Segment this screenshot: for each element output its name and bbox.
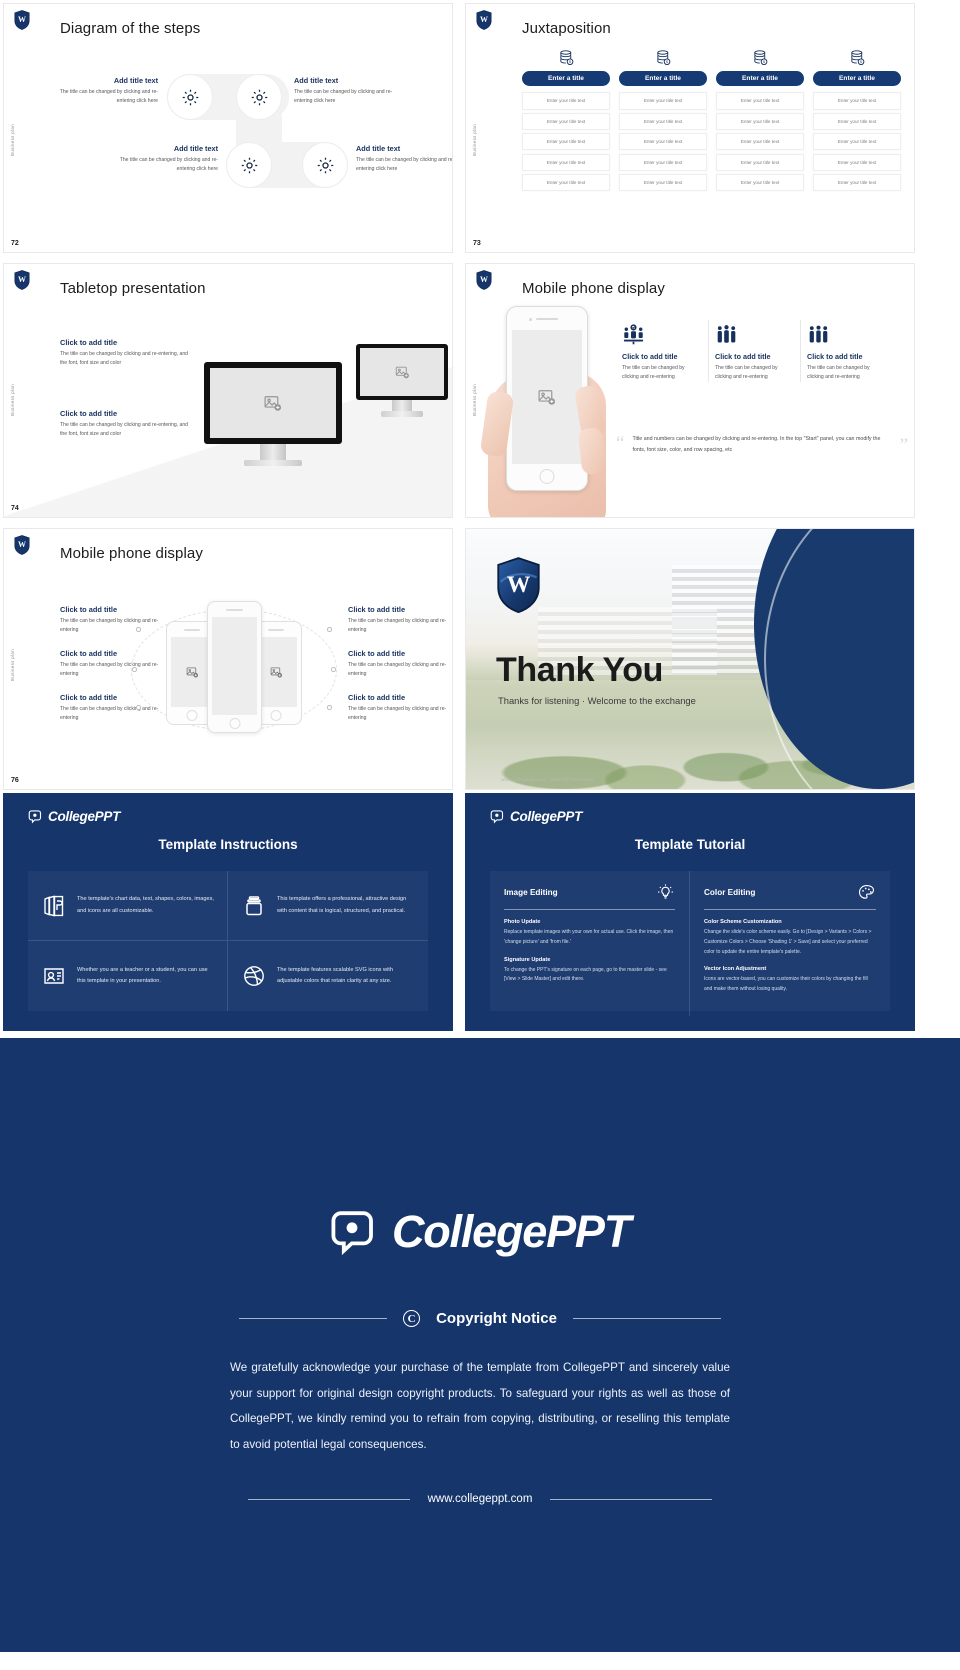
ppt-preview-page: W Diagram of the steps Business plan [0, 0, 960, 1652]
phone-speaker [536, 318, 558, 320]
brand-lockup: CollegePPT [490, 809, 582, 824]
connector-dot [136, 627, 141, 632]
step-icon-2[interactable] [236, 74, 282, 120]
tutorial-column-color-editing: Color Editing Color Scheme Customization… [690, 871, 890, 1016]
connector-dot [331, 667, 336, 672]
coin-stack-icon: $ [716, 46, 804, 68]
slide-thank-you[interactable]: W Thank You Thanks for listening · Welco… [465, 528, 915, 790]
tutorial-column-header: Color Editing [704, 883, 876, 910]
svg-text:$: $ [763, 60, 765, 64]
instruction-grid: The template's chart data, text, shapes,… [28, 871, 428, 1011]
svg-text:W: W [18, 540, 26, 549]
monitor-screen[interactable] [356, 344, 448, 400]
monitor-base [381, 411, 423, 417]
step-body: The title can be changed by clicking and… [112, 156, 218, 174]
thank-you-footer: www.collegeppt.com | Westcliff Universit… [501, 777, 593, 782]
copyright-mark-icon: C [403, 1310, 420, 1327]
tutorial-heading: Image Editing [504, 888, 558, 897]
column-header-button[interactable]: Enter a title [619, 71, 707, 86]
people-group-icon [715, 320, 794, 346]
westcliff-shield-icon: W [476, 10, 492, 30]
step-text-1: Add title text The title can be changed … [52, 76, 158, 106]
phone-home-button[interactable] [187, 710, 198, 721]
step-text-3: Add title text The title can be changed … [112, 144, 218, 174]
thank-you-subtitle: Thanks for listening · Welcome to the ex… [498, 695, 696, 706]
tutorial-column-header: Image Editing [504, 883, 675, 910]
quote-text: Title and numbers can be changed by clic… [632, 434, 891, 455]
slide-diagram-of-the-steps[interactable]: W Diagram of the steps Business plan [3, 3, 453, 253]
westcliff-shield-icon: W [476, 270, 492, 290]
phone-speaker [227, 609, 243, 611]
monitor-small[interactable] [356, 344, 448, 417]
feature-item: Click to add title The title can be chan… [616, 320, 708, 382]
copyright-heading-row: C Copyright Notice [239, 1310, 721, 1327]
tutorial-subhead: Photo Update [504, 919, 675, 925]
juxtaposition-column: $ Enter a title Enter your title text En… [716, 46, 804, 194]
page-number: 76 [11, 777, 19, 784]
phone-center[interactable] [207, 601, 262, 733]
page-title: Mobile phone display [60, 545, 203, 562]
page-number: 72 [11, 240, 19, 247]
tutorial-heading: Color Editing [704, 888, 755, 897]
divider-right [550, 1499, 712, 1500]
brand-lockup: CollegePPT [28, 809, 120, 824]
phone-display[interactable] [212, 617, 257, 715]
instruction-text: This template offers a professional, att… [277, 894, 415, 916]
feature-title: Click to add title [807, 352, 886, 361]
monitor-base [244, 460, 302, 466]
tutorial-body: To change the PPT's signature on each pa… [504, 966, 675, 986]
connector-dot [327, 705, 332, 710]
quote-open-icon: “ [616, 434, 624, 455]
svg-text:W: W [480, 275, 488, 284]
juxtaposition-column: $ Enter a title Enter your title text En… [813, 46, 901, 194]
tutorial-subhead: Color Scheme Customization [704, 919, 876, 925]
step-body: The title can be changed by clicking and… [356, 156, 453, 174]
monitor-screen[interactable] [204, 362, 342, 444]
block-title: Click to add title [60, 338, 188, 347]
page-title: Juxtaposition [522, 20, 611, 37]
phone-display[interactable] [512, 330, 582, 464]
step-text-4: Add title text The title can be changed … [356, 144, 453, 174]
info-panels: CollegePPT Template Instructions The tem… [0, 790, 960, 1031]
copyright-heading: Copyright Notice [436, 1310, 557, 1327]
block-title: Click to add title [348, 649, 453, 658]
table-cell[interactable]: Enter your title text [522, 154, 610, 171]
connector-dot [327, 627, 332, 632]
monitor-neck [392, 400, 412, 411]
quote-block: “ Title and numbers can be changed by cl… [616, 434, 908, 455]
step-title: Add title text [356, 144, 453, 153]
side-label: Business plan [472, 384, 477, 416]
slide-thumbnail-grid: W Diagram of the steps Business plan [0, 0, 960, 790]
image-placeholder-icon [269, 666, 284, 679]
svg-text:W: W [18, 275, 26, 284]
juxtaposition-columns: $ Enter a title Enter your title text En… [522, 46, 901, 194]
feature-body: The title can be changed by clicking and… [622, 364, 702, 382]
table-cell[interactable]: Enter your title text [716, 154, 804, 171]
block-title: Click to add title [348, 605, 453, 614]
phone-home-button[interactable] [271, 710, 282, 721]
table-cell[interactable]: Enter your title text [619, 174, 707, 191]
palette-icon [857, 883, 876, 902]
side-label: Business plan [10, 649, 15, 681]
table-cell[interactable]: Enter your title text [522, 174, 610, 191]
westcliff-shield-icon: W [14, 535, 30, 555]
side-label: Business plan [472, 124, 477, 156]
slide-mobile-phone-display-trio[interactable]: W Mobile phone display Business plan Cli… [3, 528, 453, 790]
slides-p-icon [41, 894, 67, 918]
phone-home-button[interactable] [229, 718, 240, 729]
collegeppt-logo-icon [330, 1208, 378, 1256]
table-cell[interactable]: Enter your title text [813, 133, 901, 150]
image-placeholder-icon [394, 365, 411, 380]
block-body: The title can be changed by clicking and… [60, 421, 188, 439]
thank-you-title: Thank You [496, 651, 663, 690]
slide-tabletop-presentation[interactable]: W Tabletop presentation Business plan Cl… [3, 263, 453, 518]
phone-trio-graphic [144, 601, 324, 741]
panel-title: Template Instructions [3, 837, 453, 852]
svg-text:$: $ [569, 60, 571, 64]
dribbble-icon [241, 964, 267, 988]
divider-left [239, 1318, 387, 1319]
tutorial-subhead: Signature Update [504, 957, 675, 963]
step-text-2: Add title text The title can be changed … [294, 76, 400, 106]
tabletop-text-block-2: Click to add title The title can be chan… [60, 409, 188, 439]
phone-speaker [184, 629, 200, 631]
tutorial-body: Change the slide's color scheme easily. … [704, 928, 876, 957]
instruction-cell: Whether you are a teacher or a student, … [28, 941, 228, 1011]
block-body: The title can be changed by clicking and… [60, 350, 188, 368]
table-cell[interactable]: Enter your title text [716, 174, 804, 191]
table-cell[interactable]: Enter your title text [619, 133, 707, 150]
column-header-button[interactable]: Enter a title [522, 71, 610, 86]
connector-dot [132, 667, 137, 672]
page-number: 73 [473, 240, 481, 247]
brand-name: CollegePPT [510, 809, 582, 824]
people-three-icon [807, 320, 886, 346]
step-title: Add title text [112, 144, 218, 153]
monitor-large[interactable] [204, 362, 342, 466]
copyright-body: We gratefully acknowledge your purchase … [230, 1355, 730, 1457]
side-label: Business plan [10, 384, 15, 416]
phone-home-button[interactable] [540, 469, 555, 484]
coin-stack-icon: $ [522, 46, 610, 68]
divider-right [573, 1318, 721, 1319]
westcliff-shield-icon: W [14, 270, 30, 290]
instruction-text: The template features scalable SVG icons… [277, 965, 415, 987]
people-target-icon [622, 320, 702, 346]
copyright-footer-row: www.collegeppt.com [248, 1493, 713, 1505]
step-body: The title can be changed by clicking and… [52, 88, 158, 106]
trio-right-block-3: Click to add title The title can be chan… [348, 693, 453, 723]
column-header-button[interactable]: Enter a title [716, 71, 804, 86]
feature-body: The title can be changed by clicking and… [715, 364, 794, 382]
box-icon [241, 894, 267, 918]
table-cell[interactable]: Enter your title text [522, 133, 610, 150]
feature-item: Click to add title The title can be chan… [800, 320, 892, 382]
step-title: Add title text [294, 76, 400, 85]
instruction-text: Whether you are a teacher or a student, … [77, 965, 214, 987]
slide-juxtaposition[interactable]: W Juxtaposition Business plan $ Enter a … [465, 3, 915, 253]
feature-title: Click to add title [622, 352, 702, 361]
page-title: Tabletop presentation [60, 280, 206, 297]
table-cell[interactable]: Enter your title text [619, 113, 707, 130]
lightbulb-icon [656, 883, 675, 902]
coin-stack-icon: $ [619, 46, 707, 68]
panel-title: Template Tutorial [465, 837, 915, 852]
tutorial-body: Replace template images with your own fo… [504, 928, 675, 948]
table-cell[interactable]: Enter your title text [522, 113, 610, 130]
page-number: 74 [11, 505, 19, 512]
tutorial-grid: Image Editing Photo Update Replace templ… [490, 871, 890, 1011]
table-cell[interactable]: Enter your title text [813, 113, 901, 130]
finger [578, 427, 607, 475]
table-cell[interactable]: Enter your title text [619, 92, 707, 109]
juxtaposition-column: $ Enter a title Enter your title text En… [619, 46, 707, 194]
quote-close-icon: ” [900, 436, 908, 455]
decorative-arc-ring [764, 529, 914, 789]
copyright-url[interactable]: www.collegeppt.com [428, 1493, 533, 1505]
instruction-cell: The template features scalable SVG icons… [228, 941, 428, 1011]
step-title: Add title text [52, 76, 158, 85]
table-cell[interactable]: Enter your title text [716, 92, 804, 109]
page-title: Mobile phone display [522, 280, 665, 297]
table-cell[interactable]: Enter your title text [813, 174, 901, 191]
juxtaposition-column: $ Enter a title Enter your title text En… [522, 46, 610, 194]
svg-text:$: $ [666, 60, 668, 64]
coin-stack-icon: $ [813, 46, 901, 68]
instruction-cell: The template's chart data, text, shapes,… [28, 871, 228, 941]
person-card-icon [41, 964, 67, 988]
tabletop-text-block-1: Click to add title The title can be chan… [60, 338, 188, 368]
collegeppt-logo-icon [490, 809, 505, 824]
trio-right-block-2: Click to add title The title can be chan… [348, 649, 453, 679]
tutorial-subhead: Vector Icon Adjustment [704, 966, 876, 972]
block-body: The title can be changed by clicking and… [348, 617, 453, 635]
monitor-neck [260, 444, 286, 460]
svg-text:W: W [480, 15, 488, 24]
connector-dot [136, 705, 141, 710]
table-cell[interactable]: Enter your title text [716, 133, 804, 150]
hand-holding-phone-image [482, 306, 608, 518]
image-placeholder-icon [262, 394, 284, 413]
westcliff-shield-icon: W [496, 557, 541, 611]
collegeppt-logo-icon [28, 809, 43, 824]
panel-template-tutorial: CollegePPT Template Tutorial Image Editi… [465, 793, 915, 1031]
copyright-section: CollegePPT C Copyright Notice We gratefu… [0, 1038, 960, 1652]
copyright-brand-lockup: CollegePPT [330, 1206, 630, 1258]
trio-right-block-1: Click to add title The title can be chan… [348, 605, 453, 635]
feature-item: Click to add title The title can be chan… [708, 320, 800, 382]
table-cell[interactable]: Enter your title text [813, 154, 901, 171]
thank-you-layout: W Thank You Thanks for listening · Welco… [466, 529, 914, 789]
slide-mobile-phone-display-hand[interactable]: W Mobile phone display Business plan [465, 263, 915, 518]
panel-template-instructions: CollegePPT Template Instructions The tem… [3, 793, 453, 1031]
feature-title: Click to add title [715, 352, 794, 361]
svg-text:W: W [507, 572, 531, 598]
steps-diagram: Add title text The title can be changed … [4, 4, 452, 252]
block-title: Click to add title [348, 693, 453, 702]
instruction-text: The template's chart data, text, shapes,… [77, 894, 214, 916]
brand-name: CollegePPT [392, 1206, 630, 1258]
feature-body: The title can be changed by clicking and… [807, 364, 886, 382]
phone-camera [529, 318, 532, 321]
table-cell[interactable]: Enter your title text [813, 92, 901, 109]
phone-speaker [268, 629, 284, 631]
table-cell[interactable]: Enter your title text [522, 92, 610, 109]
brand-name: CollegePPT [48, 809, 120, 824]
image-placeholder-icon [185, 666, 200, 679]
step-icon-4[interactable] [302, 142, 348, 188]
step-icon-1[interactable] [167, 74, 213, 120]
block-body: The title can be changed by clicking and… [348, 661, 453, 679]
divider-left [248, 1499, 410, 1500]
step-body: The title can be changed by clicking and… [294, 88, 400, 106]
block-body: The title can be changed by clicking and… [348, 705, 453, 723]
step-icon-3[interactable] [226, 142, 272, 188]
feature-row: Click to add title The title can be chan… [616, 320, 892, 382]
tutorial-body: Icons are vector-based, you can customiz… [704, 975, 876, 995]
table-cell[interactable]: Enter your title text [716, 113, 804, 130]
svg-text:$: $ [860, 60, 862, 64]
image-placeholder-icon [536, 388, 558, 407]
block-title: Click to add title [60, 409, 188, 418]
table-cell[interactable]: Enter your title text [619, 154, 707, 171]
tutorial-column-image-editing: Image Editing Photo Update Replace templ… [490, 871, 690, 1016]
instruction-cell: This template offers a professional, att… [228, 871, 428, 941]
column-header-button[interactable]: Enter a title [813, 71, 901, 86]
